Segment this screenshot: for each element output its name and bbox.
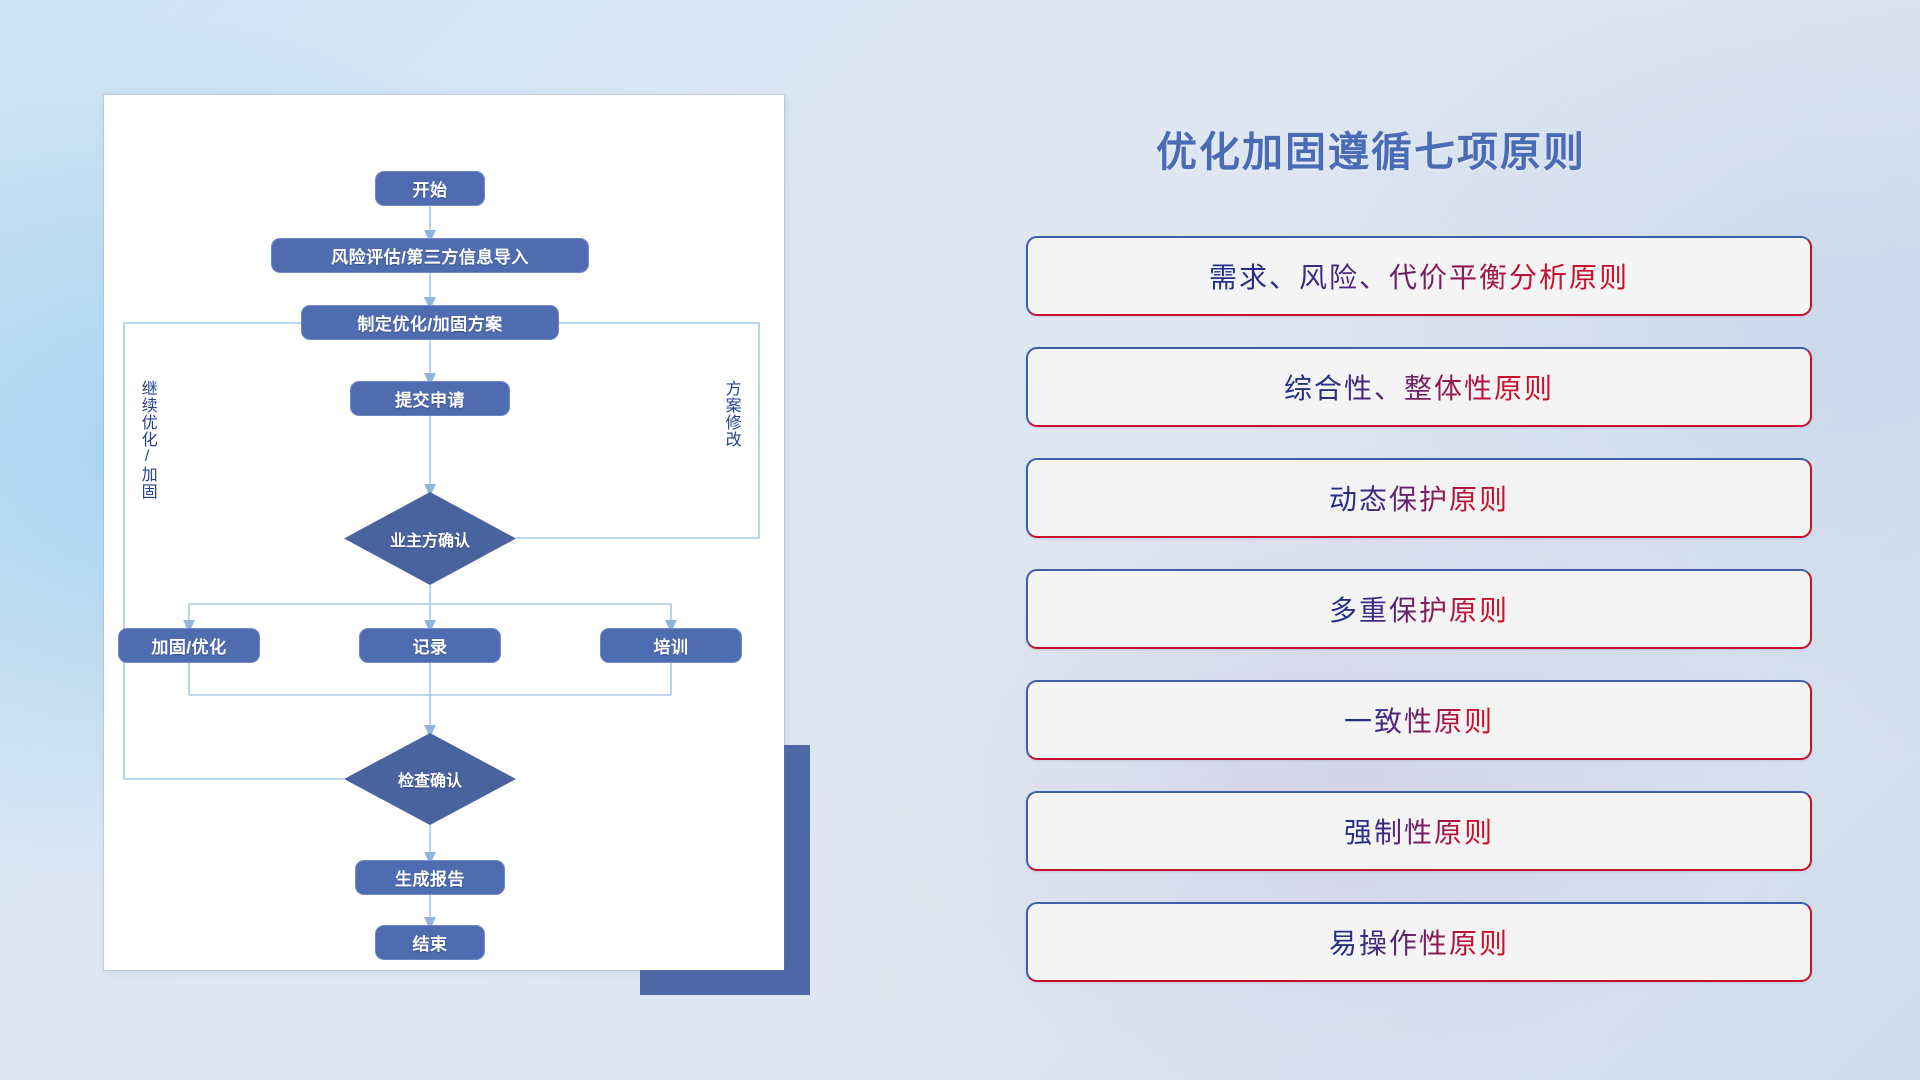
- edge-label-continue-optimize: 继续优化/加固: [138, 380, 155, 500]
- node-end-label: 结束: [413, 930, 448, 955]
- decision-owner-confirm-label: 业主方确认: [390, 527, 470, 551]
- principle-card-6[interactable]: 强制性原则: [1026, 791, 1812, 871]
- decision-check-confirm-label: 检查确认: [398, 767, 462, 791]
- node-end[interactable]: 结束: [375, 925, 485, 960]
- page-title: 优化加固遵循七项原则: [1156, 118, 1586, 178]
- node-reinforce-optimize[interactable]: 加固/优化: [118, 628, 260, 663]
- node-generate-report-label: 生成报告: [395, 865, 465, 890]
- principle-label: 综合性、整体性原则: [1284, 367, 1554, 407]
- node-start[interactable]: 开始: [375, 171, 485, 206]
- principle-card-4[interactable]: 多重保护原则: [1026, 569, 1812, 649]
- decision-owner-confirm[interactable]: 业主方确认: [344, 492, 516, 585]
- node-training-label: 培训: [654, 633, 689, 658]
- node-submit-application-label: 提交申请: [395, 386, 465, 411]
- edge-label-plan-revision: 方案修改: [722, 380, 739, 448]
- principle-label: 多重保护原则: [1329, 589, 1509, 629]
- node-training[interactable]: 培训: [600, 628, 742, 663]
- flowchart-card: 开始 风险评估/第三方信息导入 制定优化/加固方案 提交申请 业主方确认 加固/…: [104, 95, 784, 970]
- principle-card-1[interactable]: 需求、风险、代价平衡分析原则: [1026, 236, 1812, 316]
- principle-label: 强制性原则: [1344, 811, 1494, 851]
- node-make-plan[interactable]: 制定优化/加固方案: [301, 305, 559, 340]
- principle-label: 一致性原则: [1344, 700, 1494, 740]
- principle-card-3[interactable]: 动态保护原则: [1026, 458, 1812, 538]
- principle-card-5[interactable]: 一致性原则: [1026, 680, 1812, 760]
- node-risk-assessment-label: 风险评估/第三方信息导入: [331, 243, 529, 268]
- principle-card-2[interactable]: 综合性、整体性原则: [1026, 347, 1812, 427]
- node-record[interactable]: 记录: [359, 628, 501, 663]
- node-start-label: 开始: [413, 176, 448, 201]
- decision-check-confirm[interactable]: 检查确认: [344, 733, 516, 825]
- node-reinforce-optimize-label: 加固/优化: [151, 633, 226, 658]
- node-record-label: 记录: [413, 633, 448, 658]
- node-risk-assessment[interactable]: 风险评估/第三方信息导入: [271, 238, 589, 273]
- slide-root: 开始 风险评估/第三方信息导入 制定优化/加固方案 提交申请 业主方确认 加固/…: [0, 0, 1920, 1080]
- principle-card-7[interactable]: 易操作性原则: [1026, 902, 1812, 982]
- node-generate-report[interactable]: 生成报告: [355, 860, 505, 895]
- principle-label: 易操作性原则: [1329, 922, 1509, 962]
- principles-list: 需求、风险、代价平衡分析原则 综合性、整体性原则 动态保护原则 多重保护原则 一…: [1026, 236, 1812, 982]
- node-submit-application[interactable]: 提交申请: [350, 381, 510, 416]
- node-make-plan-label: 制定优化/加固方案: [357, 310, 502, 335]
- principle-label: 动态保护原则: [1329, 478, 1509, 518]
- principle-label: 需求、风险、代价平衡分析原则: [1209, 256, 1629, 296]
